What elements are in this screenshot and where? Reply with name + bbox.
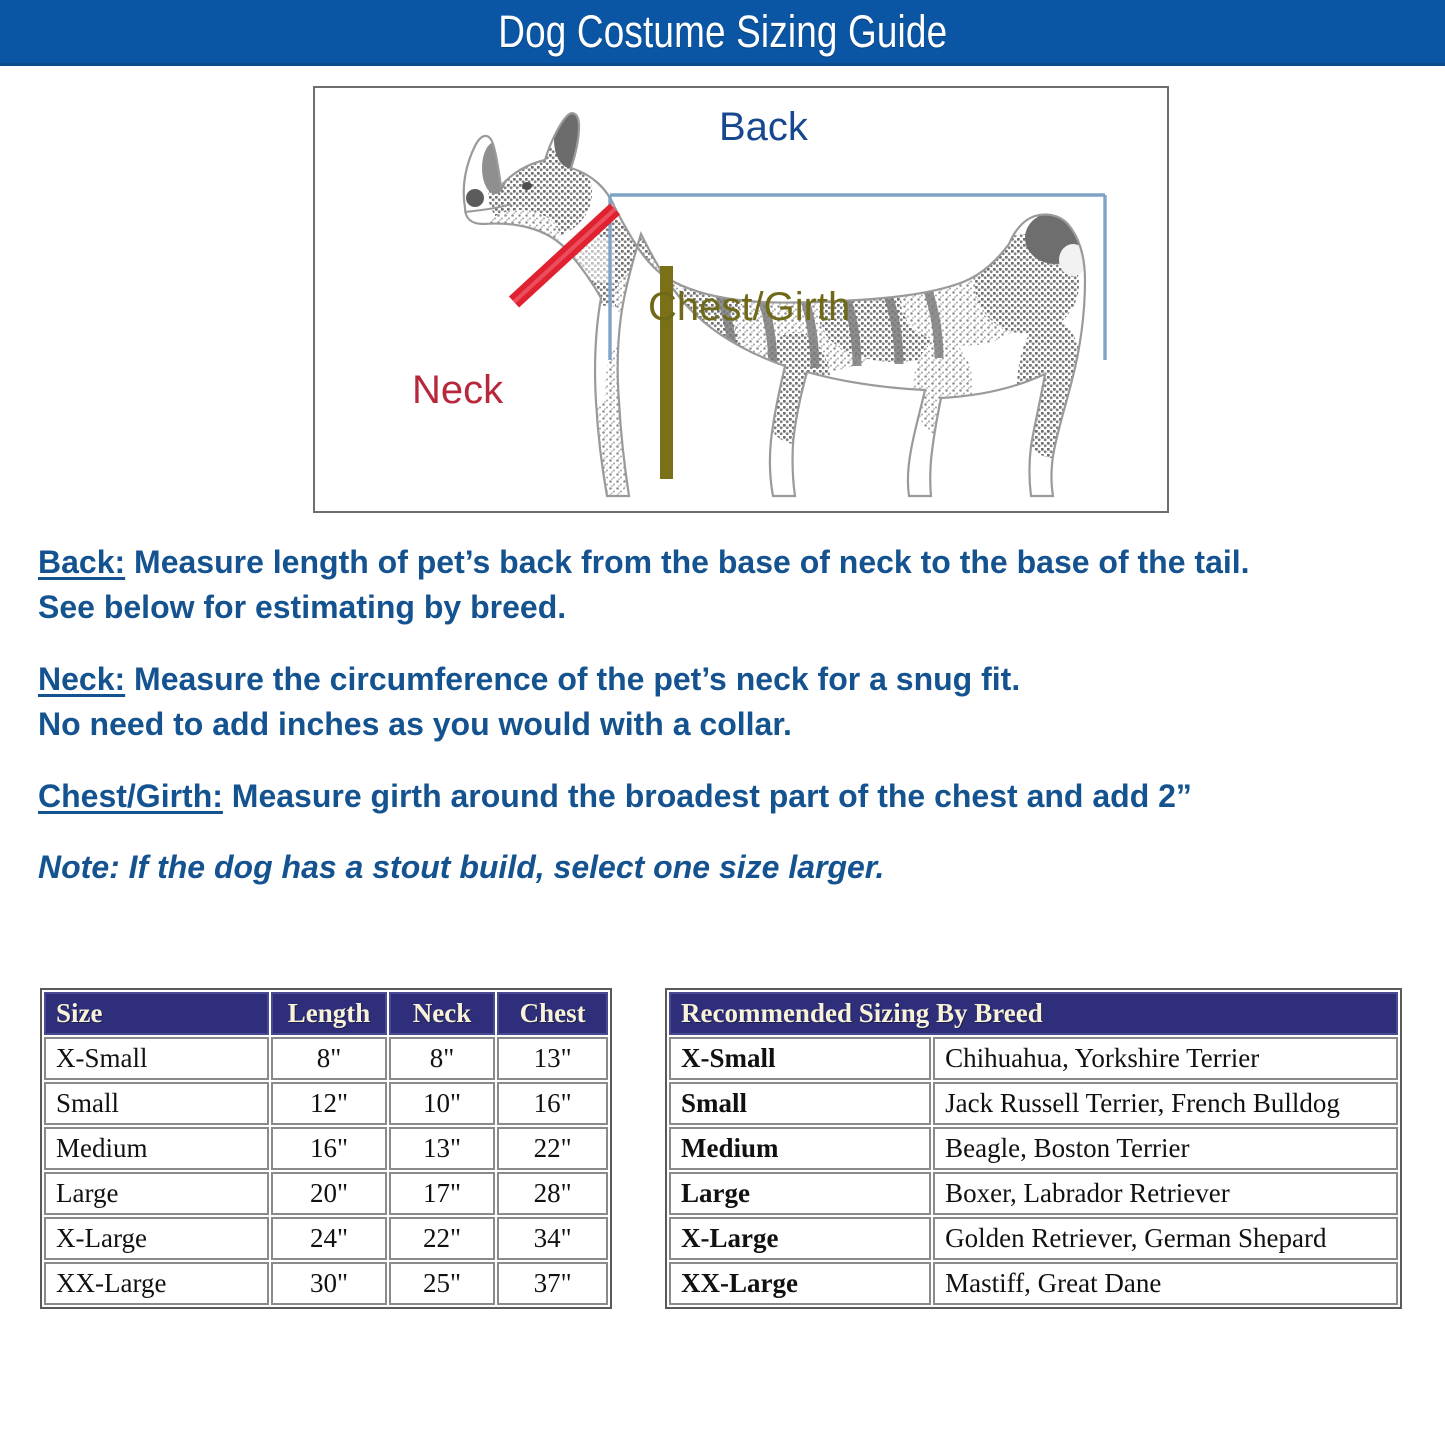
cell-size: XX-Large (44, 1262, 269, 1305)
page-title: Dog Costume Sizing Guide (498, 6, 947, 58)
table-row: Small Jack Russell Terrier, French Bulld… (669, 1082, 1398, 1125)
table-row: Small 12" 10" 16" (44, 1082, 608, 1125)
cell-length: 16" (271, 1127, 386, 1170)
cell-neck: 8" (389, 1037, 496, 1080)
cell-chest: 28" (497, 1172, 608, 1215)
instruction-neck-line-1: Measure the circumference of the pet’s n… (125, 661, 1020, 697)
column-header-chest: Chest (497, 992, 608, 1035)
cell-size: Large (44, 1172, 269, 1215)
cell-breeds: Jack Russell Terrier, French Bulldog (933, 1082, 1398, 1125)
table-header-row: Recommended Sizing By Breed (669, 992, 1398, 1035)
instruction-chest-girth: Chest/Girth: Measure girth around the br… (38, 774, 1408, 819)
table-row: X-Small Chihuahua, Yorkshire Terrier (669, 1037, 1398, 1080)
breeds-table-title: Recommended Sizing By Breed (669, 992, 1398, 1035)
measurements-table: Size Length Neck Chest X-Small 8" 8" 13"… (40, 988, 612, 1309)
table-row: XX-Large Mastiff, Great Dane (669, 1262, 1398, 1305)
cell-size: X-Large (669, 1217, 931, 1260)
column-header-size: Size (44, 992, 269, 1035)
column-header-length: Length (271, 992, 386, 1035)
cell-length: 12" (271, 1082, 386, 1125)
cell-breeds: Boxer, Labrador Retriever (933, 1172, 1398, 1215)
cell-size: Medium (44, 1127, 269, 1170)
cell-neck: 13" (389, 1127, 496, 1170)
instruction-chest-line-1: Measure girth around the broadest part o… (223, 778, 1192, 814)
cell-neck: 10" (389, 1082, 496, 1125)
dog-eye-icon (522, 182, 532, 190)
cell-length: 24" (271, 1217, 386, 1260)
instruction-neck-lead: Neck: (38, 661, 125, 697)
dog-nose-icon (466, 189, 484, 207)
cell-size: Large (669, 1172, 931, 1215)
instruction-neck: Neck: Measure the circumference of the p… (38, 657, 1408, 748)
cell-length: 8" (271, 1037, 386, 1080)
cell-length: 20" (271, 1172, 386, 1215)
cell-size: Small (44, 1082, 269, 1125)
cell-neck: 17" (389, 1172, 496, 1215)
cell-size: X-Large (44, 1217, 269, 1260)
cell-size: XX-Large (669, 1262, 931, 1305)
cell-size: X-Small (669, 1037, 931, 1080)
diagram-label-neck: Neck (412, 368, 503, 413)
cell-breeds: Chihuahua, Yorkshire Terrier (933, 1037, 1398, 1080)
table-row: X-Large Golden Retriever, German Shepard (669, 1217, 1398, 1260)
cell-chest: 13" (497, 1037, 608, 1080)
instruction-note-line: Note: If the dog has a stout build, sele… (38, 845, 1408, 890)
instruction-note: Note: If the dog has a stout build, sele… (38, 845, 1408, 890)
table-row: Medium Beagle, Boston Terrier (669, 1127, 1398, 1170)
diagram-label-chest-girth: Chest/Girth (648, 285, 850, 330)
instruction-chest-lead: Chest/Girth: (38, 778, 223, 814)
table-row: Medium 16" 13" 22" (44, 1127, 608, 1170)
cell-breeds: Golden Retriever, German Shepard (933, 1217, 1398, 1260)
page-header-banner: Dog Costume Sizing Guide (0, 0, 1445, 66)
cell-chest: 22" (497, 1127, 608, 1170)
table-header-row: Size Length Neck Chest (44, 992, 608, 1035)
table-row: Large Boxer, Labrador Retriever (669, 1172, 1398, 1215)
cell-chest: 16" (497, 1082, 608, 1125)
cell-breeds: Beagle, Boston Terrier (933, 1127, 1398, 1170)
cell-chest: 34" (497, 1217, 608, 1260)
cell-breeds: Mastiff, Great Dane (933, 1262, 1398, 1305)
dog-measurement-diagram: Back Chest/Girth Neck (313, 86, 1169, 513)
cell-size: Medium (669, 1127, 931, 1170)
breeds-table: Recommended Sizing By Breed X-Small Chih… (665, 988, 1402, 1309)
table-row: X-Small 8" 8" 13" (44, 1037, 608, 1080)
measuring-instructions: Back: Measure length of pet’s back from … (38, 540, 1408, 891)
table-row: Large 20" 17" 28" (44, 1172, 608, 1215)
table-row: XX-Large 30" 25" 37" (44, 1262, 608, 1305)
cell-size: X-Small (44, 1037, 269, 1080)
cell-neck: 22" (389, 1217, 496, 1260)
instruction-back-line-2: See below for estimating by breed. (38, 585, 1408, 630)
table-row: X-Large 24" 22" 34" (44, 1217, 608, 1260)
instruction-back-line-1: Measure length of pet’s back from the ba… (125, 544, 1249, 580)
cell-chest: 37" (497, 1262, 608, 1305)
cell-neck: 25" (389, 1262, 496, 1305)
instruction-back: Back: Measure length of pet’s back from … (38, 540, 1408, 631)
cell-size: Small (669, 1082, 931, 1125)
instruction-neck-line-2: No need to add inches as you would with … (38, 702, 1408, 747)
diagram-label-back: Back (719, 105, 808, 150)
instruction-back-lead: Back: (38, 544, 125, 580)
column-header-neck: Neck (389, 992, 496, 1035)
cell-length: 30" (271, 1262, 386, 1305)
